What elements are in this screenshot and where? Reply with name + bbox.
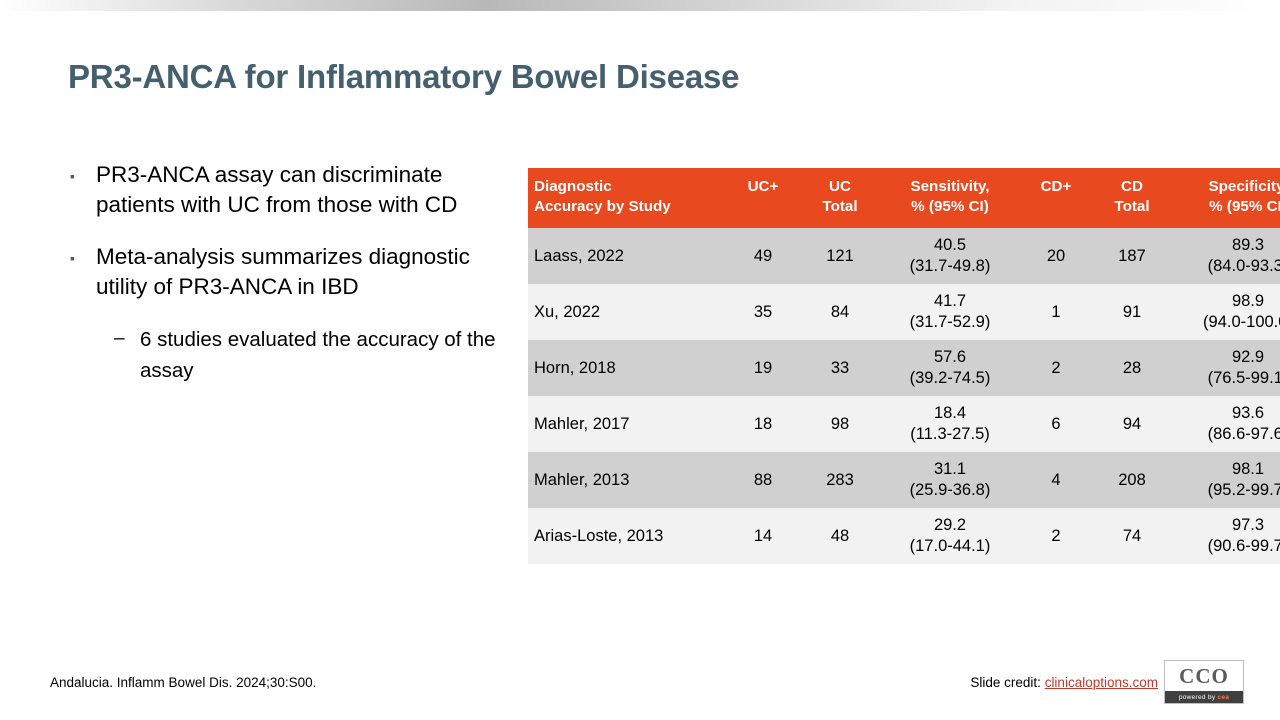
top-decorative-bar xyxy=(0,0,1280,11)
column-header-uc-positive: UC+ xyxy=(726,168,800,228)
column-header-sensitivity: Sensitivity, % (95% CI) xyxy=(880,168,1020,228)
table-row: Mahler, 2013 88 283 31.1 (25.9-36.8) 4 2… xyxy=(528,452,1280,508)
cell-uc-total: 98 xyxy=(800,396,880,452)
cell-uc-positive: 14 xyxy=(726,508,800,564)
cell-cd-positive: 4 xyxy=(1020,452,1092,508)
slide-credit-label: Slide credit: xyxy=(970,675,1044,690)
cell-cd-total: 187 xyxy=(1092,228,1172,284)
cell-sensitivity: 18.4 (11.3-27.5) xyxy=(880,396,1020,452)
slide-credit: Slide credit: clinicaloptions.com xyxy=(970,675,1158,690)
column-header-specificity: Specificity, % (95% CI) xyxy=(1172,168,1280,228)
list-item: ▪ Meta-analysis summarizes diagnostic ut… xyxy=(70,242,500,302)
cco-logo: CCO powered by cea xyxy=(1164,660,1244,704)
list-item: ▪ PR3-ANCA assay can discriminate patien… xyxy=(70,160,500,220)
cea-brand-label: cea xyxy=(1217,694,1229,701)
cell-study: Arias-Loste, 2013 xyxy=(528,508,726,564)
cell-uc-positive: 18 xyxy=(726,396,800,452)
cell-sensitivity: 40.5 (31.7-49.8) xyxy=(880,228,1020,284)
table-header-row: Diagnostic Accuracy by Study UC+ UC Tota… xyxy=(528,168,1280,228)
cco-logo-tagline: powered by cea xyxy=(1165,691,1243,703)
cell-cd-positive: 6 xyxy=(1020,396,1092,452)
cell-cd-total: 208 xyxy=(1092,452,1172,508)
cell-cd-positive: 2 xyxy=(1020,340,1092,396)
cell-specificity: 92.9 (76.5-99.1) xyxy=(1172,340,1280,396)
cell-uc-total: 283 xyxy=(800,452,880,508)
cell-sensitivity: 57.6 (39.2-74.5) xyxy=(880,340,1020,396)
cell-study: Mahler, 2013 xyxy=(528,452,726,508)
cell-uc-total: 48 xyxy=(800,508,880,564)
clinicaloptions-link[interactable]: clinicaloptions.com xyxy=(1045,675,1158,690)
cell-cd-positive: 1 xyxy=(1020,284,1092,340)
cell-cd-total: 74 xyxy=(1092,508,1172,564)
sub-bullet-text: 6 studies evaluated the accuracy of the … xyxy=(140,324,500,386)
cell-study: Laass, 2022 xyxy=(528,228,726,284)
cell-specificity: 98.1 (95.2-99.7) xyxy=(1172,452,1280,508)
table-header: Diagnostic Accuracy by Study UC+ UC Tota… xyxy=(528,168,1280,228)
table-row: Mahler, 2017 18 98 18.4 (11.3-27.5) 6 94… xyxy=(528,396,1280,452)
square-bullet-icon: ▪ xyxy=(70,160,96,191)
powered-by-label: powered by xyxy=(1179,694,1216,701)
cell-uc-positive: 35 xyxy=(726,284,800,340)
table-body: Laass, 2022 49 121 40.5 (31.7-49.8) 20 1… xyxy=(528,228,1280,564)
table-row: Arias-Loste, 2013 14 48 29.2 (17.0-44.1)… xyxy=(528,508,1280,564)
cell-uc-positive: 19 xyxy=(726,340,800,396)
cell-study: Xu, 2022 xyxy=(528,284,726,340)
cell-study: Mahler, 2017 xyxy=(528,396,726,452)
bullet-text: PR3-ANCA assay can discriminate patients… xyxy=(96,160,500,220)
citation-text: Andalucia. Inflamm Bowel Dis. 2024;30:S0… xyxy=(50,675,316,690)
cell-specificity: 98.9 (94.0-100.0) xyxy=(1172,284,1280,340)
cell-cd-total: 91 xyxy=(1092,284,1172,340)
cell-sensitivity: 29.2 (17.0-44.1) xyxy=(880,508,1020,564)
cco-logo-text: CCO xyxy=(1165,661,1243,691)
bullet-list: ▪ PR3-ANCA assay can discriminate patien… xyxy=(70,160,500,386)
cell-cd-positive: 2 xyxy=(1020,508,1092,564)
diagnostic-accuracy-table: Diagnostic Accuracy by Study UC+ UC Tota… xyxy=(528,168,1280,564)
table-row: Horn, 2018 19 33 57.6 (39.2-74.5) 2 28 9… xyxy=(528,340,1280,396)
dash-bullet-icon: – xyxy=(114,324,140,354)
cell-sensitivity: 41.7 (31.7-52.9) xyxy=(880,284,1020,340)
table-row: Xu, 2022 35 84 41.7 (31.7-52.9) 1 91 98.… xyxy=(528,284,1280,340)
cell-uc-positive: 49 xyxy=(726,228,800,284)
cell-uc-total: 33 xyxy=(800,340,880,396)
bullet-text: Meta-analysis summarizes diagnostic util… xyxy=(96,242,500,302)
column-header-study: Diagnostic Accuracy by Study xyxy=(528,168,726,228)
sub-list-item: – 6 studies evaluated the accuracy of th… xyxy=(114,324,500,386)
cell-specificity: 89.3 (84.0-93.3) xyxy=(1172,228,1280,284)
cell-uc-total: 84 xyxy=(800,284,880,340)
cell-sensitivity: 31.1 (25.9-36.8) xyxy=(880,452,1020,508)
cell-cd-positive: 20 xyxy=(1020,228,1092,284)
cell-study: Horn, 2018 xyxy=(528,340,726,396)
column-header-cd-total: CD Total xyxy=(1092,168,1172,228)
column-header-cd-positive: CD+ xyxy=(1020,168,1092,228)
cell-uc-positive: 88 xyxy=(726,452,800,508)
square-bullet-icon: ▪ xyxy=(70,242,96,273)
table-row: Laass, 2022 49 121 40.5 (31.7-49.8) 20 1… xyxy=(528,228,1280,284)
cell-uc-total: 121 xyxy=(800,228,880,284)
cell-cd-total: 94 xyxy=(1092,396,1172,452)
cell-specificity: 97.3 (90.6-99.7) xyxy=(1172,508,1280,564)
column-header-uc-total: UC Total xyxy=(800,168,880,228)
diagnostic-accuracy-table-wrapper: Diagnostic Accuracy by Study UC+ UC Tota… xyxy=(528,168,1280,564)
cell-specificity: 93.6 (86.6-97.6) xyxy=(1172,396,1280,452)
cell-cd-total: 28 xyxy=(1092,340,1172,396)
page-title: PR3-ANCA for Inflammatory Bowel Disease xyxy=(68,58,739,96)
